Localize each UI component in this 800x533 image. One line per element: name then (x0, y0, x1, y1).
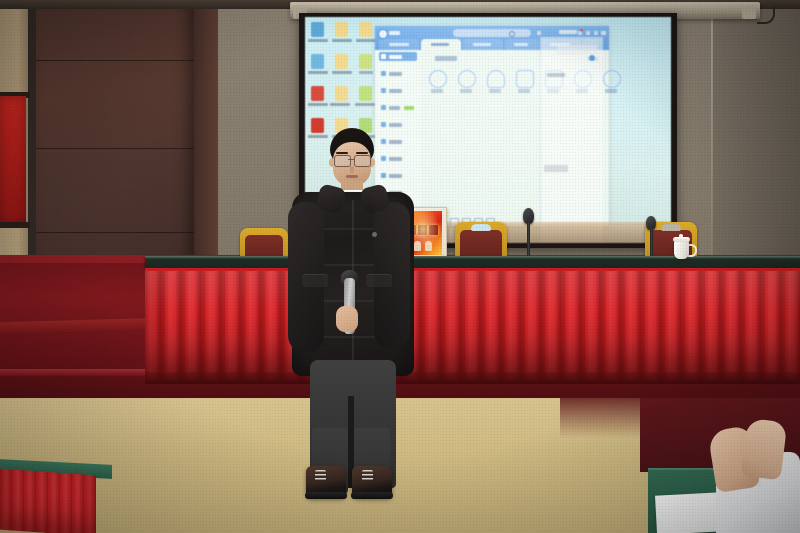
panel-text-line (547, 73, 565, 77)
feature-icon-1[interactable] (429, 70, 447, 88)
desktop-icon-2[interactable] (335, 22, 348, 37)
stage-table-skirt-shading (145, 271, 800, 381)
desktop-icon-9[interactable] (359, 86, 372, 101)
sidebar-icon-1 (381, 54, 386, 59)
feature-icon-4[interactable] (516, 70, 534, 88)
sidebar-badge-new (404, 106, 414, 110)
boot-right-laces (362, 470, 373, 482)
feature-icon-2[interactable] (458, 70, 476, 88)
audience-side-table-skirt (0, 469, 96, 533)
jacket-pocket-left (302, 274, 328, 287)
conference-room-photo (0, 0, 800, 533)
desktop-icon-6[interactable] (359, 54, 372, 69)
eyeglasses-left-lens (334, 155, 351, 167)
sidebar-item-1[interactable] (379, 52, 417, 61)
eyebrow-left (336, 152, 348, 154)
boot-right-sole (351, 492, 393, 499)
desktop-icon-5[interactable] (335, 54, 348, 69)
feature-icon-3[interactable] (487, 70, 505, 88)
tab-1[interactable] (379, 39, 419, 50)
sidebar-icon-2 (381, 71, 386, 76)
eyeglasses-bridge (348, 159, 355, 160)
stage-table-highlight (145, 256, 800, 259)
hand-holding-microphone (336, 306, 358, 332)
desktop-icon-7[interactable] (311, 86, 324, 101)
app-logo-icon (378, 29, 388, 39)
app-title-text (389, 31, 400, 35)
settings-gear-icon[interactable] (586, 31, 590, 35)
nose (350, 166, 354, 173)
clapping-hand-right (741, 418, 788, 480)
sidebar-icon-4 (381, 105, 386, 110)
tab-2[interactable] (421, 39, 461, 50)
jacket-pocket-right (366, 274, 392, 287)
help-icon[interactable] (537, 31, 541, 35)
microphone-on-stand-center (521, 208, 535, 260)
stage-table-skirt-base (145, 372, 800, 384)
desktop-icon-grid (311, 22, 375, 142)
tab-3[interactable] (463, 39, 503, 50)
red-wall-banner (0, 96, 26, 224)
panel-status-dot (589, 55, 595, 61)
eyeglasses-right-lens (354, 155, 371, 167)
teacup-knob (679, 234, 683, 238)
sidebar-item-2[interactable] (379, 69, 417, 78)
desktop-icon-8[interactable] (335, 86, 348, 101)
desktop-icon-3[interactable] (359, 22, 372, 37)
panel-header-box (557, 45, 597, 55)
microphone-on-stand-right (644, 216, 657, 260)
presenter (270, 128, 400, 510)
banner-frame-bottom (0, 222, 30, 228)
audience-paper (655, 492, 723, 533)
sidebar-item-3[interactable] (379, 86, 417, 95)
wall-seam-line (711, 0, 713, 268)
search-icon[interactable] (509, 31, 515, 37)
sidebar-icon-3 (381, 88, 386, 93)
boot-left-sole (305, 492, 347, 499)
jacket-logo (372, 232, 377, 237)
search-input[interactable] (453, 29, 531, 37)
desktop-icon-1[interactable] (311, 22, 324, 37)
boot-left-laces (315, 470, 326, 482)
minimize-button[interactable] (601, 31, 606, 35)
eyebrow-right (356, 152, 368, 154)
mouth (346, 175, 358, 178)
feature-icon-7[interactable] (603, 70, 621, 88)
sidebar-item-4[interactable] (379, 103, 417, 112)
wall-shadow-right (712, 0, 800, 280)
desktop-icon-4[interactable] (311, 54, 324, 69)
sidebar-icon-5 (381, 122, 386, 127)
panel-chip (544, 165, 568, 172)
content-section-title (435, 56, 457, 61)
grid-menu-icon[interactable] (594, 31, 598, 35)
tab-4[interactable] (505, 39, 539, 50)
white-teacup-with-lid (674, 240, 689, 259)
